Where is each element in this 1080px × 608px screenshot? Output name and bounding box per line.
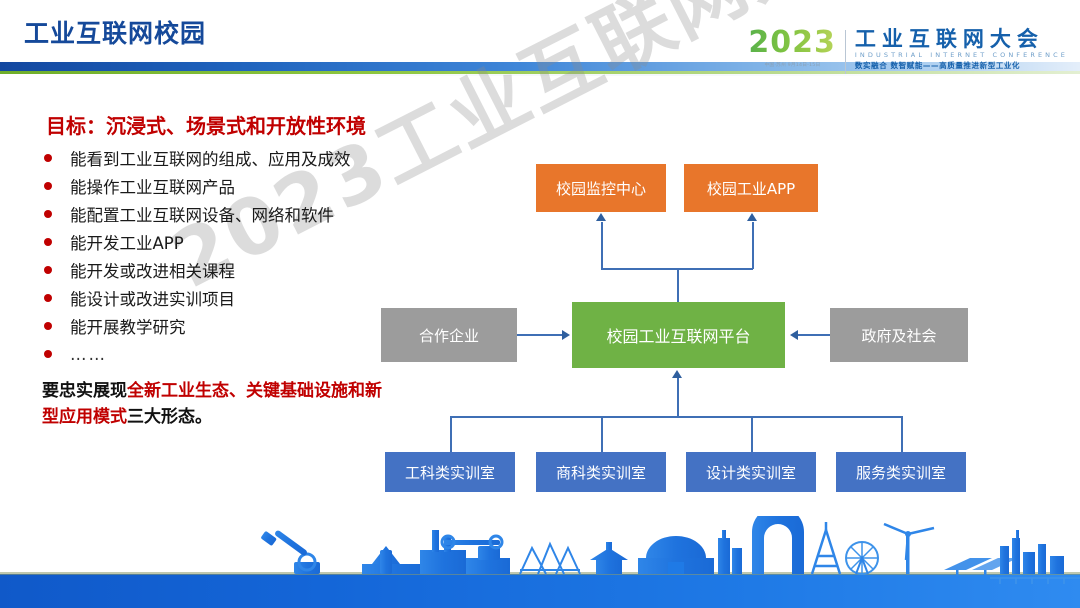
robot-arm-icon — [260, 529, 320, 574]
node-government-society[interactable]: 政府及社会 — [830, 308, 968, 362]
logo-place-date: 中国·苏州 9月14日-15日 — [764, 61, 820, 68]
bullet-dot-icon — [44, 210, 52, 218]
summary-paragraph: 要忠实展现全新工业生态、关键基础设施和新型应用模式三大形态。 — [42, 378, 392, 430]
node-lab-business[interactable]: 商科类实训室 — [536, 452, 666, 492]
connector-top-bus — [601, 268, 753, 270]
list-item-label: 能操作工业互联网产品 — [70, 174, 235, 198]
arrow-left-platform-icon — [790, 330, 798, 340]
connector-bus-to-lab3 — [751, 416, 753, 453]
bullet-dot-icon — [44, 154, 52, 162]
arrow-up-app-icon — [747, 213, 757, 221]
right-city-cluster-icon — [1000, 530, 1064, 574]
summary-tail: 三大形态。 — [127, 407, 212, 427]
list-item: 能开发或改进相关课程 — [44, 257, 444, 283]
bullet-dot-icon — [44, 182, 52, 190]
logo-year: 2023 — [748, 28, 836, 58]
list-item-label: 能开展教学研究 — [70, 314, 186, 338]
connector-lab-bus — [450, 416, 902, 418]
list-item: 能开发工业APP — [44, 229, 444, 255]
skyline-graphic-icon — [0, 516, 1080, 608]
node-monitor-center[interactable]: 校园监控中心 — [536, 164, 666, 212]
gantry-crane-icon — [442, 536, 502, 548]
goal-heading: 目标：沉浸式、场景式和开放性环境 — [46, 110, 366, 139]
connector-bus-to-lab4 — [901, 416, 903, 453]
connector-bus-to-app — [752, 222, 754, 269]
gate-of-orient-icon — [752, 516, 804, 574]
connector-bus-to-lab1 — [450, 416, 452, 453]
logo-name-block: 工业互联网大会 INDUSTRIAL INTERNET CONFERENCE 数… — [855, 28, 1068, 71]
arrow-right-platform-icon — [562, 330, 570, 340]
logo-name-en: INDUSTRIAL INTERNET CONFERENCE — [855, 51, 1068, 60]
node-lab-service[interactable]: 服务类实训室 — [836, 452, 966, 492]
page-title: 工业互联网校园 — [24, 14, 206, 50]
node-industrial-app[interactable]: 校园工业APP — [684, 164, 818, 212]
list-item-label: 能看到工业互联网的组成、应用及成效 — [70, 146, 351, 170]
list-item-label: 能配置工业互联网设备、网络和软件 — [70, 202, 334, 226]
cable-bridge-icon — [520, 544, 580, 574]
node-partner-enterprise[interactable]: 合作企业 — [381, 308, 517, 362]
bullet-dot-icon — [44, 238, 52, 246]
list-item: 能看到工业互联网的组成、应用及成效 — [44, 145, 444, 171]
list-item-label: …… — [70, 345, 107, 364]
connector-gov-to-platform — [798, 334, 832, 336]
wind-turbine-icon — [884, 524, 934, 574]
logo-tagline: 数实融合 数智赋能——高质量推进新型工业化 — [855, 60, 1068, 71]
summary-lead: 要忠实展现 — [42, 381, 127, 401]
ferris-wheel-icon — [846, 542, 878, 574]
list-item-label: 能开发或改进相关课程 — [70, 258, 235, 282]
connector-labbus-to-platform — [677, 378, 679, 416]
list-item: 能操作工业互联网产品 — [44, 173, 444, 199]
connector-bus-to-lab2 — [601, 416, 603, 453]
bullet-dot-icon — [44, 322, 52, 330]
bullet-dot-icon — [44, 266, 52, 274]
bullet-dot-icon — [44, 350, 52, 358]
arrow-up-platform-icon — [672, 370, 682, 378]
list-item: 能配置工业互联网设备、网络和软件 — [44, 201, 444, 227]
list-item-label: 能设计或改进实训项目 — [70, 286, 235, 310]
node-lab-engineering[interactable]: 工科类实训室 — [385, 452, 515, 492]
tower-icon — [812, 522, 840, 574]
connector-partner-to-platform — [517, 334, 563, 336]
slide: 工业互联网校园 2023 中国·苏州 9月14日-15日 工业互联网大会 IND… — [0, 0, 1080, 608]
node-platform[interactable]: 校园工业互联网平台 — [572, 302, 785, 368]
skyscraper-cluster-icon — [718, 530, 742, 574]
logo-divider — [845, 30, 846, 74]
connector-bus-to-monitor — [601, 222, 603, 269]
pipeline-icon — [362, 546, 428, 574]
arch-gate-icon — [638, 536, 714, 574]
conference-logo: 2023 中国·苏州 9月14日-15日 工业互联网大会 INDUSTRIAL … — [748, 28, 1068, 76]
node-lab-design[interactable]: 设计类实训室 — [686, 452, 816, 492]
arrow-up-monitor-icon — [596, 213, 606, 221]
footer-skyline — [0, 516, 1080, 608]
logo-name-cn: 工业互联网大会 — [855, 28, 1068, 51]
connector-platform-to-bus — [677, 268, 679, 304]
pagoda-icon — [590, 542, 628, 574]
list-item-label: 能开发工业APP — [70, 230, 184, 254]
logo-year-block: 2023 中国·苏州 9月14日-15日 — [748, 28, 845, 68]
bullet-dot-icon — [44, 294, 52, 302]
